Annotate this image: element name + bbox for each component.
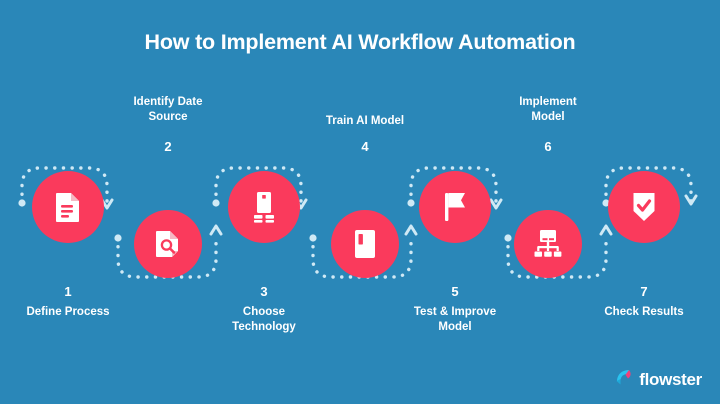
step-label-6: Implement Model bbox=[488, 95, 608, 125]
shield-check-icon bbox=[631, 192, 657, 222]
document-search-icon bbox=[155, 230, 181, 258]
step-node-3[interactable] bbox=[228, 171, 300, 243]
step-number-7: 7 bbox=[594, 284, 694, 299]
document-lines-icon bbox=[55, 192, 81, 222]
step-number-6: 6 bbox=[498, 139, 598, 154]
step-label-3: Choose Technology bbox=[204, 305, 324, 335]
book-icon bbox=[353, 229, 377, 259]
brand-name: flowster bbox=[639, 370, 702, 390]
step-node-4[interactable] bbox=[331, 210, 399, 278]
step-number-2: 2 bbox=[118, 139, 218, 154]
step-number-1: 1 bbox=[18, 284, 118, 299]
step-node-2[interactable] bbox=[134, 210, 202, 278]
brand-logo[interactable]: flowster bbox=[614, 367, 702, 392]
flowster-arrow-logo-icon bbox=[614, 367, 634, 392]
step-label-4: Train AI Model bbox=[305, 114, 425, 129]
flag-icon bbox=[442, 192, 468, 222]
page-title: How to Implement AI Workflow Automation bbox=[0, 30, 720, 55]
step-number-5: 5 bbox=[405, 284, 505, 299]
step-label-1: Define Process bbox=[8, 305, 128, 320]
step-label-2: Identify Date Source bbox=[108, 95, 228, 125]
sitemap-icon bbox=[532, 229, 564, 259]
device-server-icon bbox=[251, 191, 277, 223]
step-node-1[interactable] bbox=[32, 171, 104, 243]
step-node-7[interactable] bbox=[608, 171, 680, 243]
step-number-4: 4 bbox=[315, 139, 415, 154]
step-label-7: Check Results bbox=[584, 305, 704, 320]
infographic-canvas: How to Implement AI Workflow Automation bbox=[0, 0, 720, 404]
step-number-3: 3 bbox=[214, 284, 314, 299]
step-node-6[interactable] bbox=[514, 210, 582, 278]
step-node-5[interactable] bbox=[419, 171, 491, 243]
step-label-5: Test & Improve Model bbox=[395, 305, 515, 335]
